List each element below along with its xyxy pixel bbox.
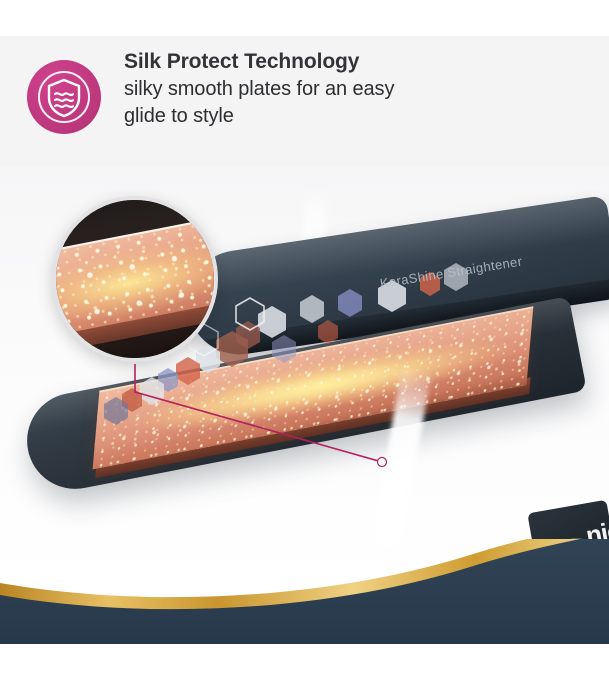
feature-text-block: Silk Protect Technology silky smooth pla… xyxy=(124,48,584,130)
footer-white-strip xyxy=(0,644,609,684)
feature-header: Silk Protect Technology silky smooth pla… xyxy=(0,48,609,158)
feature-title: Silk Protect Technology xyxy=(124,48,584,76)
plate-closeup-magnifier xyxy=(52,196,218,362)
shield-waves-icon xyxy=(27,60,101,134)
feature-subtitle-line-2: glide to style xyxy=(124,103,584,130)
footer-decorative-band xyxy=(0,539,609,684)
feature-subtitle-line-1: silky smooth plates for an easy xyxy=(124,76,584,103)
product-feature-banner: Silk Protect Technology silky smooth pla… xyxy=(0,0,609,684)
background-top-white xyxy=(0,0,609,36)
shield-glyph xyxy=(46,78,82,118)
